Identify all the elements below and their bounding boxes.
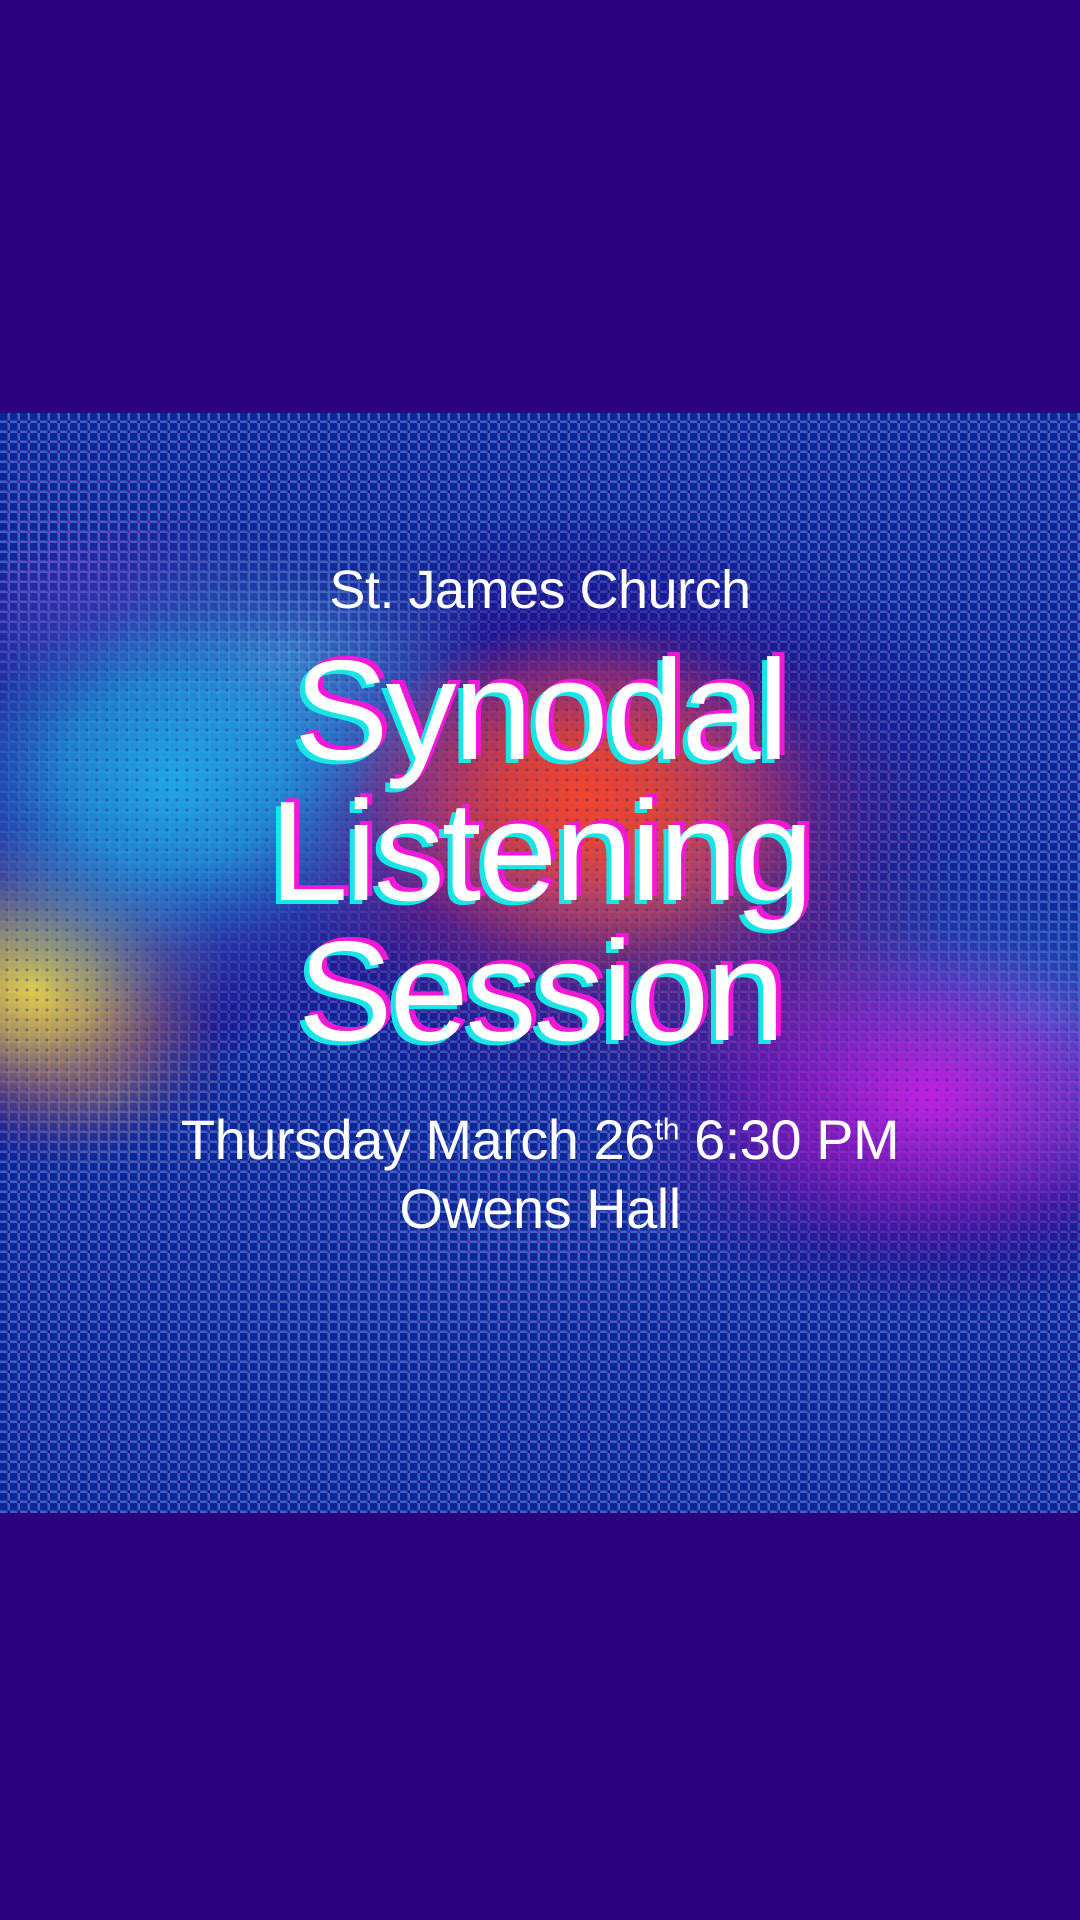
- event-date-text: Thursday March 26: [181, 1108, 655, 1171]
- event-title-line-3: Session: [298, 922, 782, 1063]
- event-title-line-1: Synodal: [294, 641, 786, 782]
- event-details: Thursday March 26th 6:30 PM Owens Hall: [181, 1109, 899, 1240]
- event-poster: St. James Church Synodal Listening Sessi…: [0, 0, 1080, 1920]
- event-title-line-2: Listening: [269, 782, 810, 923]
- event-venue: Owens Hall: [181, 1178, 899, 1240]
- event-datetime: Thursday March 26th 6:30 PM: [181, 1109, 899, 1171]
- poster-content: St. James Church Synodal Listening Sessi…: [0, 413, 1080, 1513]
- event-date-ordinal: th: [655, 1113, 679, 1146]
- event-time-text: 6:30 PM: [679, 1108, 899, 1171]
- organization-name: St. James Church: [329, 563, 750, 617]
- event-title: Synodal Listening Session: [269, 641, 810, 1063]
